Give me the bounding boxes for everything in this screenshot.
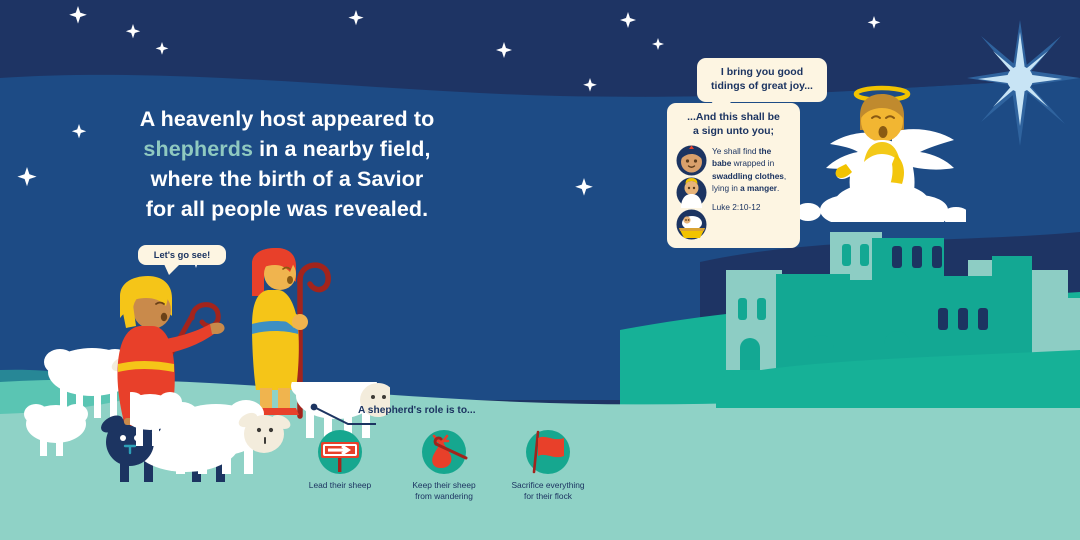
roles-title: A shepherd's role is to... (358, 405, 476, 416)
headline-line-2: in a nearby field, (253, 137, 431, 161)
headline-line-3: where the birth of a Savior (151, 167, 424, 191)
role-item-lead: Lead their sheep (296, 428, 384, 501)
headline-highlight: shepherds (143, 137, 253, 161)
tidings-line-1: I bring you good (706, 66, 818, 80)
direction-sign-icon (316, 428, 364, 476)
bubble-tail (164, 264, 180, 275)
sign-line-2: a sign unto you; (676, 125, 791, 139)
shepherd-speech-bubble: Let's go see! (138, 245, 226, 265)
angel-speech-bubble-scripture: ...And this shall be a sign unto you; (667, 103, 800, 248)
swaddled-baby-icon (676, 177, 707, 208)
sign-line-1: ...And this shall be (676, 111, 791, 125)
bethlehem-town (716, 228, 1080, 408)
headline-line-4: for all people was revealed. (146, 197, 428, 221)
role-item-keep: Keep their sheep from wandering (400, 428, 488, 501)
scripture-text: Ye shall find the babe wrapped in swaddl… (712, 145, 791, 195)
baby-in-manger-icon (676, 209, 707, 240)
role-label-line-2: from wandering (400, 491, 488, 502)
angel-speech-bubble-tidings: I bring you good tidings of great joy... (697, 58, 827, 102)
role-label-line-1: Lead their sheep (296, 480, 384, 491)
role-label-line-1: Sacrifice everything (504, 480, 592, 491)
role-item-sacrifice: Sacrifice everything for their flock (504, 428, 592, 501)
sheep-with-crook-icon (420, 428, 468, 476)
flag-icon (524, 428, 572, 476)
tidings-line-2: tidings of great joy... (706, 80, 818, 94)
sheep (24, 404, 88, 456)
scripture-reference: Luke 2:10-12 (712, 201, 791, 213)
nativity-illustration: A heavenly host appeared to shepherds in… (0, 0, 1080, 540)
page-title: A heavenly host appeared to shepherds in… (92, 104, 482, 224)
baby-face-icon (676, 145, 707, 176)
role-label-line-2: for their flock (504, 491, 592, 502)
letsgo-text: Let's go see! (154, 250, 210, 260)
bethlehem-star (965, 18, 1080, 148)
headline-line-1: A heavenly host appeared to (140, 107, 435, 131)
role-label-line-1: Keep their sheep (400, 480, 488, 491)
